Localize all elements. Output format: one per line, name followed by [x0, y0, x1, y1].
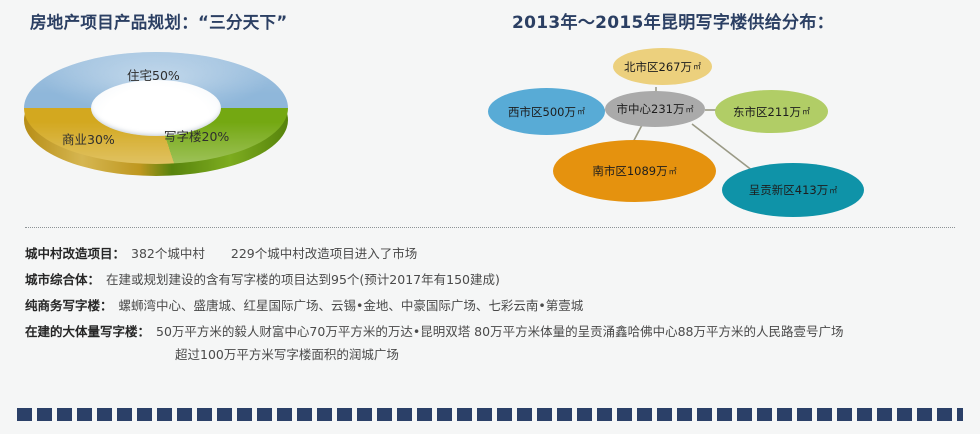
- diagram-node-north-district[interactable]: 北市区267万㎡: [613, 48, 712, 85]
- diagram-node-chenggong-new-district[interactable]: 呈贡新区413万㎡: [722, 163, 864, 217]
- node-unit-west: ㎡: [577, 106, 585, 117]
- fact-value-large-office-under-construction: 50万平方米的毅人财富中心70万平方米的万达•昆明双塔 80万平方米体量的呈贡涌…: [156, 323, 843, 341]
- right-panel-title: 2013年～2015年昆明写字楼供给分布：: [512, 8, 834, 33]
- fact-value-urban-village-b: 229个城中村改造项目进入了市场: [231, 246, 417, 261]
- fact-row: 纯商务写字楼： 螺蛳湾中心、盛唐城、红星国际广场、云锡•金地、中豪国际广场、七彩…: [25, 297, 960, 315]
- fact-row: 城中村改造项目： 382个城中村229个城中村改造项目进入了市场: [25, 245, 960, 263]
- diagram-node-west-district[interactable]: 西市区500万㎡: [488, 88, 605, 135]
- diagram-node-city-center[interactable]: 市中心231万㎡: [605, 91, 705, 127]
- fact-label-pure-business-office: 纯商务写字楼：: [25, 297, 113, 315]
- node-label-chenggong: 呈贡新区413万: [749, 182, 828, 198]
- node-label-south: 南市区1089万: [592, 163, 667, 179]
- diagram-node-east-district[interactable]: 东市区211万㎡: [715, 90, 828, 133]
- facts-list: 城中村改造项目： 382个城中村229个城中村改造项目进入了市场 城市综合体： …: [25, 245, 960, 363]
- node-unit-north: ㎡: [693, 61, 701, 72]
- donut-label-residential: 住宅50%: [127, 65, 180, 84]
- fact-value-pure-business-office: 螺蛳湾中心、盛唐城、红星国际广场、云锡•金地、中豪国际广场、七彩云南•第壹城: [119, 297, 584, 315]
- donut-label-office: 写字楼20%: [164, 126, 229, 145]
- node-unit-east: ㎡: [802, 106, 810, 117]
- node-unit-chenggong: ㎡: [829, 185, 837, 196]
- fact-row: 城市综合体： 在建或规划建设的含有写字楼的项目达到95个(预计2017年有150…: [25, 271, 960, 289]
- product-mix-donut-chart: 住宅50% 商业30% 写字楼20%: [24, 52, 288, 178]
- node-unit-south: ㎡: [669, 166, 677, 177]
- fact-label-urban-village: 城中村改造项目：: [25, 245, 125, 263]
- fact-value-urban-complex: 在建或规划建设的含有写字楼的项目达到95个(预计2017年有150建成): [106, 271, 500, 289]
- office-supply-distribution-diagram: 北市区267万㎡ 西市区500万㎡ 市中心231万㎡ 东市区211万㎡ 南市区1…: [470, 40, 980, 220]
- node-label-center: 市中心231万: [617, 101, 685, 117]
- left-panel-title: 房地产项目产品规划：“三分天下”: [30, 9, 288, 33]
- fact-row: 在建的大体量写字楼： 50万平方米的毅人财富中心70万平方米的万达•昆明双塔 8…: [25, 323, 960, 341]
- fact-label-urban-complex: 城市综合体：: [25, 271, 100, 289]
- fact-value-large-office-continuation: 超过100万平方米写字楼面积的润城广场: [175, 344, 960, 363]
- bottom-dashed-accent-bar: [17, 408, 963, 421]
- node-label-east: 东市区211万: [733, 104, 801, 120]
- donut-label-commercial: 商业30%: [62, 129, 115, 148]
- node-label-north: 北市区267万: [624, 59, 692, 75]
- fact-value-urban-village-a: 382个城中村: [131, 246, 205, 261]
- fact-value-urban-village: 382个城中村229个城中村改造项目进入了市场: [131, 245, 417, 263]
- fact-label-large-office-under-construction: 在建的大体量写字楼：: [25, 323, 150, 341]
- section-divider: [25, 227, 955, 228]
- node-label-west: 西市区500万: [508, 104, 576, 120]
- node-unit-center: ㎡: [685, 104, 693, 115]
- diagram-node-south-district[interactable]: 南市区1089万㎡: [553, 140, 716, 202]
